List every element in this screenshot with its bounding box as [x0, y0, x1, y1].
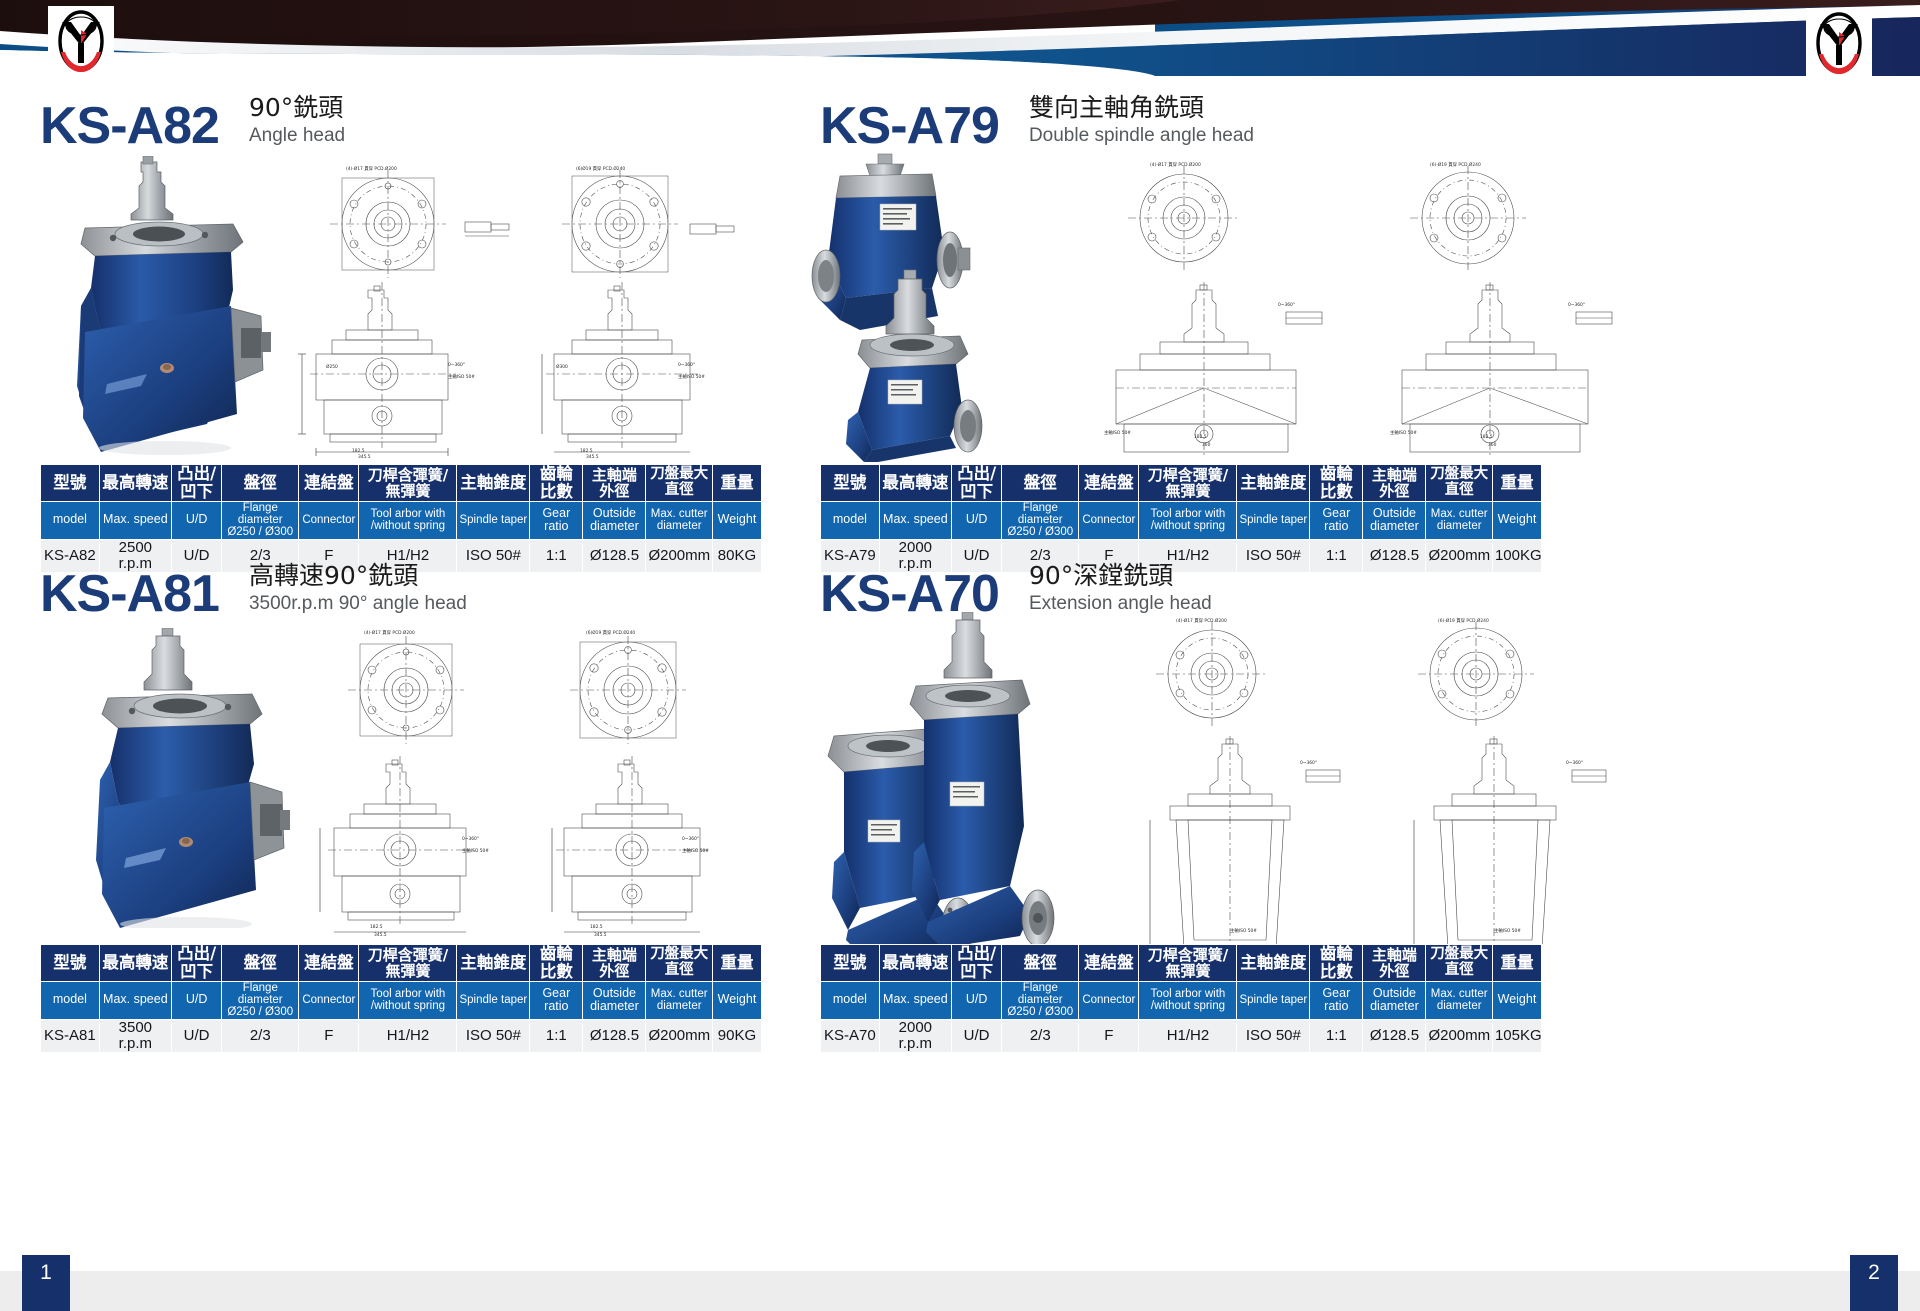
- th-model: 型號: [821, 465, 880, 502]
- product-block-ks-a82: KS-A82 90°銑頭 Angle head: [0, 76, 800, 556]
- engineering-drawing: (4)-Ø17 貫穿 PCD.Ø200 (6)Ø19 貫穿 PCD.Ø240 3…: [280, 160, 770, 460]
- th-max-speed: 最高轉速: [99, 465, 171, 502]
- td-en-max-speed: Max. speed: [879, 501, 951, 539]
- drawing-dim-width-2: 182.5: [1480, 434, 1493, 440]
- drawing-dim-total-2: 345.5: [586, 454, 599, 460]
- td-en-flange: Flange diameter Ø250 / Ø300: [1002, 501, 1079, 539]
- td-en-outside-dia: Outside diameter: [1363, 981, 1426, 1019]
- td-en-gear-ratio: Gear ratio: [530, 501, 583, 539]
- cell-outside-dia: Ø128.5: [583, 1019, 646, 1052]
- drawing-label-taper: 主軸ISO 50#: [1104, 429, 1131, 436]
- th-connector: 連結盤: [299, 945, 359, 982]
- drawing-label-rotation: 0~360°: [1300, 760, 1317, 766]
- extension-angle-head-photo: [804, 612, 1064, 962]
- drawing-flange-d2: Ø300: [556, 363, 568, 370]
- cell-model: KS-A70: [821, 1019, 880, 1052]
- td-en-spindle-taper: Spindle taper: [1237, 981, 1310, 1019]
- th-tool-arbor: 刀桿含彈簧/無彈簧: [1139, 945, 1237, 982]
- th-connector: 連結盤: [299, 465, 359, 502]
- cell-ud: U/D: [951, 1019, 1001, 1052]
- td-en-outside-dia: Outside diameter: [583, 501, 646, 539]
- drawing-dim-width: 182.5: [370, 924, 383, 930]
- drawing-label-taper-2: 主軸ISO 50#: [682, 847, 709, 854]
- product-block-ks-a70: KS-A70 90°深鏜銑頭 Extension angle head: [790, 556, 1920, 1236]
- technical-drawing-ks-a81: (4)-Ø17 貫穿 PCD.Ø200 (6)Ø19 貫穿 PCD.Ø240 3…: [300, 624, 770, 944]
- drawing-label-taper-2: 主軸ISO 50#: [678, 373, 705, 380]
- th-gear-ratio: 齒輪比數: [530, 465, 583, 502]
- engineering-drawing: (4)-Ø17 貫穿 PCD.Ø200 (6)-Ø19 貫穿 PCD.Ø240 …: [1070, 156, 1650, 456]
- drawing-label-rotation-2: 0~360°: [1568, 302, 1585, 308]
- footer-bar: [0, 1271, 1920, 1311]
- td-en-outside-dia: Outside diameter: [1363, 501, 1426, 539]
- td-en-connector: Connector: [1079, 981, 1139, 1019]
- drawing-dim-width-2: 182.5: [580, 448, 593, 454]
- engineering-drawing: (4)-Ø17 貫穿 PCD.Ø200 (6)-Ø19 貫穿 PCD.Ø240 …: [1090, 614, 1650, 944]
- cell-cutter-dia: Ø200mm: [646, 1019, 713, 1052]
- th-flange: 盤徑: [1002, 465, 1079, 502]
- drawing-label-taper: 主軸ISO 50#: [448, 373, 475, 380]
- drawing-dim-width-2: 182.5: [590, 924, 603, 930]
- th-spindle-taper: 主軸錐度: [1237, 945, 1310, 982]
- th-cutter-dia: 刀盤最大直徑: [1426, 465, 1493, 502]
- td-en-model: model: [41, 981, 100, 1019]
- th-weight: 重量: [712, 465, 761, 502]
- td-en-outside-dia: Outside diameter: [583, 981, 646, 1019]
- double-spindle-photo: [800, 148, 1040, 468]
- table-header-row-en: model Max. speed U/D Flange diameter Ø25…: [41, 981, 762, 1019]
- cell-gear-ratio: 1:1: [530, 1019, 583, 1052]
- th-cutter-dia: 刀盤最大直徑: [1426, 945, 1493, 982]
- th-weight: 重量: [1492, 465, 1541, 502]
- th-tool-arbor: 刀桿含彈簧/無彈簧: [359, 945, 457, 982]
- drawing-dim-width: 182.5: [1194, 434, 1207, 440]
- th-outside-dia: 主軸端外徑: [583, 465, 646, 502]
- drawing-dim-total-2: 360: [1488, 442, 1497, 448]
- product-photo-ks-a70: [804, 612, 1064, 962]
- td-en-connector: Connector: [1079, 501, 1139, 539]
- th-spindle-taper: 主軸錐度: [1237, 465, 1310, 502]
- th-connector: 連結盤: [1079, 465, 1139, 502]
- table-header-row-cn: 型號 最高轉速 凸出/凹下 盤徑 連結盤 刀桿含彈簧/無彈簧 主軸錐度 齒輪比數…: [41, 945, 762, 982]
- drawing-dim-total-2: 345.5: [594, 932, 607, 938]
- yin-logo-icon: [1811, 12, 1867, 74]
- td-en-spindle-taper: Spindle taper: [457, 501, 530, 539]
- td-en-ud: U/D: [951, 501, 1001, 539]
- td-en-model: model: [821, 981, 880, 1019]
- th-spindle-taper: 主軸錐度: [457, 465, 530, 502]
- drawing-label-bolt-circle: (4)-Ø17 貫穿 PCD.Ø200: [364, 629, 415, 636]
- product-title-cn: 90°深鏜銑頭: [1029, 562, 1212, 591]
- table-row: KS-A81 3500 r.p.m U/D 2/3 F H1/H2 ISO 50…: [41, 1019, 762, 1052]
- page-number-left: 1: [22, 1255, 70, 1311]
- th-model: 型號: [41, 465, 100, 502]
- cell-flange: 2/3: [222, 1019, 299, 1052]
- th-max-speed: 最高轉速: [879, 465, 951, 502]
- table-header-row-en: model Max. speed U/D Flange diameter Ø25…: [821, 501, 1542, 539]
- drawing-label-rotation-2: 0~360°: [682, 836, 699, 842]
- th-ud: 凸出/凹下: [951, 465, 1001, 502]
- drawing-label-rotation: 0~360°: [448, 362, 465, 368]
- cell-connector: F: [1079, 1019, 1139, 1052]
- th-ud: 凸出/凹下: [171, 465, 221, 502]
- td-en-flange: Flange diameter Ø250 / Ø300: [222, 981, 299, 1019]
- drawing-label-taper: 主軸ISO 50#: [462, 847, 489, 854]
- drawing-label-bolt-circle: (4)-Ø17 貫穿 PCD.Ø200: [1176, 617, 1227, 624]
- spec-table-ks-a81: 型號 最高轉速 凸出/凹下 盤徑 連結盤 刀桿含彈簧/無彈簧 主軸錐度 齒輪比數…: [40, 944, 762, 1053]
- page-number-right: 2: [1850, 1255, 1898, 1311]
- td-en-ud: U/D: [951, 981, 1001, 1019]
- technical-drawing-ks-a79: (4)-Ø17 貫穿 PCD.Ø200 (6)-Ø19 貫穿 PCD.Ø240 …: [1070, 156, 1650, 456]
- cell-max-speed: 2000 r.p.m: [879, 1019, 951, 1052]
- th-weight: 重量: [1492, 945, 1541, 982]
- high-speed-angle-head-photo: [70, 628, 295, 928]
- logo-left: [48, 6, 114, 76]
- drawing-dim-total: 345.5: [374, 932, 387, 938]
- technical-drawing-ks-a82: (4)-Ø17 貫穿 PCD.Ø200 (6)Ø19 貫穿 PCD.Ø240 3…: [280, 160, 770, 460]
- cell-weight: 90KG: [712, 1019, 761, 1052]
- td-en-max-speed: Max. speed: [879, 981, 951, 1019]
- product-model-name: KS-A79: [820, 100, 999, 152]
- drawing-label-taper-2: 主軸ISO 50#: [1390, 429, 1417, 436]
- td-en-tool-arbor: Tool arbor with /without spring: [359, 501, 457, 539]
- td-en-tool-arbor: Tool arbor with /without spring: [1139, 981, 1237, 1019]
- th-cutter-dia: 刀盤最大直徑: [646, 945, 713, 982]
- th-gear-ratio: 齒輪比數: [1310, 945, 1363, 982]
- product-title-cn: 高轉速90°銑頭: [249, 562, 467, 591]
- cell-tool-arbor: H1/H2: [359, 1019, 457, 1052]
- td-en-max-speed: Max. speed: [99, 981, 171, 1019]
- td-en-connector: Connector: [299, 981, 359, 1019]
- cell-cutter-dia: Ø200mm: [1426, 1019, 1493, 1052]
- td-en-cutter-dia: Max. cutter diameter: [1426, 501, 1493, 539]
- drawing-label-bolt-circle-2: (6)-Ø19 貫穿 PCD.Ø240: [1430, 161, 1481, 168]
- product-title-en: Double spindle angle head: [1029, 125, 1254, 148]
- spec-table-ks-a70: 型號 最高轉速 凸出/凹下 盤徑 連結盤 刀桿含彈簧/無彈簧 主軸錐度 齒輪比數…: [820, 944, 1542, 1053]
- banner-swoosh-graphic: [0, 0, 1920, 76]
- th-gear-ratio: 齒輪比數: [530, 945, 583, 982]
- cell-spindle-taper: ISO 50#: [457, 1019, 530, 1052]
- th-cutter-dia: 刀盤最大直徑: [646, 465, 713, 502]
- cell-connector: F: [299, 1019, 359, 1052]
- td-en-tool-arbor: Tool arbor with /without spring: [1139, 501, 1237, 539]
- th-max-speed: 最高轉速: [879, 945, 951, 982]
- td-en-weight: Weight: [1492, 501, 1541, 539]
- td-en-flange: Flange diameter Ø250 / Ø300: [1002, 981, 1079, 1019]
- header-banner: [0, 0, 1920, 76]
- spec-table: 型號 最高轉速 凸出/凹下 盤徑 連結盤 刀桿含彈簧/無彈簧 主軸錐度 齒輪比數…: [820, 944, 1542, 1053]
- cell-weight: 105KG: [1492, 1019, 1541, 1052]
- th-tool-arbor: 刀桿含彈簧/無彈簧: [359, 465, 457, 502]
- drawing-label-bolt-circle-2: (6)Ø19 貫穿 PCD.Ø240: [576, 165, 625, 172]
- drawing-dim-total: 345.5: [358, 454, 371, 460]
- drawing-dim-width: 182.5: [352, 448, 365, 454]
- cell-flange: 2/3: [1002, 1019, 1079, 1052]
- logo-right: [1806, 8, 1872, 78]
- product-title-ks-a79: KS-A79 雙向主軸角銑頭 Double spindle angle head: [820, 94, 1254, 152]
- product-photo-ks-a81: [70, 628, 295, 928]
- table-header-row-cn: 型號 最高轉速 凸出/凹下 盤徑 連結盤 刀桿含彈簧/無彈簧 主軸錐度 齒輪比數…: [41, 465, 762, 502]
- th-ud: 凸出/凹下: [171, 945, 221, 982]
- td-en-weight: Weight: [712, 501, 761, 539]
- th-connector: 連結盤: [1079, 945, 1139, 982]
- cell-max-speed: 3500 r.p.m: [99, 1019, 171, 1052]
- table-row: KS-A70 2000 r.p.m U/D 2/3 F H1/H2 ISO 50…: [821, 1019, 1542, 1052]
- th-flange: 盤徑: [1002, 945, 1079, 982]
- td-en-weight: Weight: [1492, 981, 1541, 1019]
- drawing-label-rotation: 0~360°: [1278, 302, 1295, 308]
- th-outside-dia: 主軸端外徑: [1363, 945, 1426, 982]
- product-block-ks-a79: KS-A79 雙向主軸角銑頭 Double spindle angle head: [790, 76, 1920, 556]
- angle-head-photo: [55, 156, 275, 456]
- drawing-label-bolt-circle-2: (6)-Ø19 貫穿 PCD.Ø240: [1438, 617, 1489, 624]
- drawing-label-rotation-2: 0~360°: [1566, 760, 1583, 766]
- table-header-row-en: model Max. speed U/D Flange diameter Ø25…: [41, 501, 762, 539]
- product-block-ks-a81: KS-A81 高轉速90°銑頭 3500r.p.m 90° angle head: [0, 556, 800, 1236]
- drawing-label-taper: 主軸ISO 50#: [1230, 927, 1257, 934]
- th-ud: 凸出/凹下: [951, 945, 1001, 982]
- td-en-gear-ratio: Gear ratio: [1310, 501, 1363, 539]
- table-header-row-en: model Max. speed U/D Flange diameter Ø25…: [821, 981, 1542, 1019]
- td-en-max-speed: Max. speed: [99, 501, 171, 539]
- drawing-label-bolt-circle: (4)-Ø17 貫穿 PCD.Ø200: [1150, 161, 1201, 168]
- th-gear-ratio: 齒輪比數: [1310, 465, 1363, 502]
- td-en-gear-ratio: Gear ratio: [530, 981, 583, 1019]
- cell-outside-dia: Ø128.5: [1363, 1019, 1426, 1052]
- th-flange: 盤徑: [222, 465, 299, 502]
- td-en-model: model: [821, 501, 880, 539]
- product-title-cn: 90°銑頭: [249, 94, 345, 123]
- td-en-ud: U/D: [171, 981, 221, 1019]
- product-photo-ks-a79: [800, 148, 1040, 468]
- product-title-ks-a70: KS-A70 90°深鏜銑頭 Extension angle head: [820, 562, 1212, 620]
- product-model-name: KS-A82: [40, 100, 219, 152]
- td-en-flange: Flange diameter Ø250 / Ø300: [222, 501, 299, 539]
- drawing-label-rotation-2: 0~360°: [678, 362, 695, 368]
- cell-spindle-taper: ISO 50#: [1237, 1019, 1310, 1052]
- product-photo-ks-a82: [55, 156, 275, 456]
- drawing-label-bolt-circle: (4)-Ø17 貫穿 PCD.Ø200: [346, 165, 397, 172]
- table-header-row-cn: 型號 最高轉速 凸出/凹下 盤徑 連結盤 刀桿含彈簧/無彈簧 主軸錐度 齒輪比數…: [821, 465, 1542, 502]
- th-model: 型號: [821, 945, 880, 982]
- td-en-spindle-taper: Spindle taper: [457, 981, 530, 1019]
- th-outside-dia: 主軸端外徑: [583, 945, 646, 982]
- product-title-cn: 雙向主軸角銑頭: [1029, 94, 1254, 123]
- td-en-model: model: [41, 501, 100, 539]
- td-en-cutter-dia: Max. cutter diameter: [646, 981, 713, 1019]
- drawing-label-rotation: 0~360°: [462, 836, 479, 842]
- td-en-weight: Weight: [712, 981, 761, 1019]
- drawing-label-bolt-circle-2: (6)Ø19 貫穿 PCD.Ø240: [586, 629, 635, 636]
- td-en-cutter-dia: Max. cutter diameter: [646, 501, 713, 539]
- yin-logo-icon: [53, 10, 109, 72]
- cell-gear-ratio: 1:1: [1310, 1019, 1363, 1052]
- catalog-page: KS-A82 90°銑頭 Angle head: [0, 0, 1920, 1311]
- drawing-dim-total: 360: [1202, 442, 1211, 448]
- th-spindle-taper: 主軸錐度: [457, 945, 530, 982]
- product-title-en: Angle head: [249, 125, 345, 148]
- product-title-ks-a82: KS-A82 90°銑頭 Angle head: [40, 94, 345, 152]
- cell-model: KS-A81: [41, 1019, 100, 1052]
- spec-table: 型號 最高轉速 凸出/凹下 盤徑 連結盤 刀桿含彈簧/無彈簧 主軸錐度 齒輪比數…: [40, 944, 762, 1053]
- th-max-speed: 最高轉速: [99, 945, 171, 982]
- engineering-drawing: (4)-Ø17 貫穿 PCD.Ø200 (6)Ø19 貫穿 PCD.Ø240 3…: [300, 624, 770, 944]
- product-title-ks-a81: KS-A81 高轉速90°銑頭 3500r.p.m 90° angle head: [40, 562, 467, 620]
- drawing-label-taper-2: 主軸ISO 50#: [1494, 927, 1521, 934]
- td-en-cutter-dia: Max. cutter diameter: [1426, 981, 1493, 1019]
- product-model-name: KS-A81: [40, 568, 219, 620]
- th-model: 型號: [41, 945, 100, 982]
- td-en-tool-arbor: Tool arbor with /without spring: [359, 981, 457, 1019]
- td-en-gear-ratio: Gear ratio: [1310, 981, 1363, 1019]
- td-en-spindle-taper: Spindle taper: [1237, 501, 1310, 539]
- table-header-row-cn: 型號 最高轉速 凸出/凹下 盤徑 連結盤 刀桿含彈簧/無彈簧 主軸錐度 齒輪比數…: [821, 945, 1542, 982]
- th-weight: 重量: [712, 945, 761, 982]
- drawing-flange-d1: Ø250: [326, 363, 338, 370]
- td-en-ud: U/D: [171, 501, 221, 539]
- cell-ud: U/D: [171, 1019, 221, 1052]
- technical-drawing-ks-a70: (4)-Ø17 貫穿 PCD.Ø200 (6)-Ø19 貫穿 PCD.Ø240 …: [1090, 614, 1650, 944]
- product-title-en: 3500r.p.m 90° angle head: [249, 593, 467, 616]
- th-flange: 盤徑: [222, 945, 299, 982]
- cell-tool-arbor: H1/H2: [1139, 1019, 1237, 1052]
- th-outside-dia: 主軸端外徑: [1363, 465, 1426, 502]
- td-en-connector: Connector: [299, 501, 359, 539]
- th-tool-arbor: 刀桿含彈簧/無彈簧: [1139, 465, 1237, 502]
